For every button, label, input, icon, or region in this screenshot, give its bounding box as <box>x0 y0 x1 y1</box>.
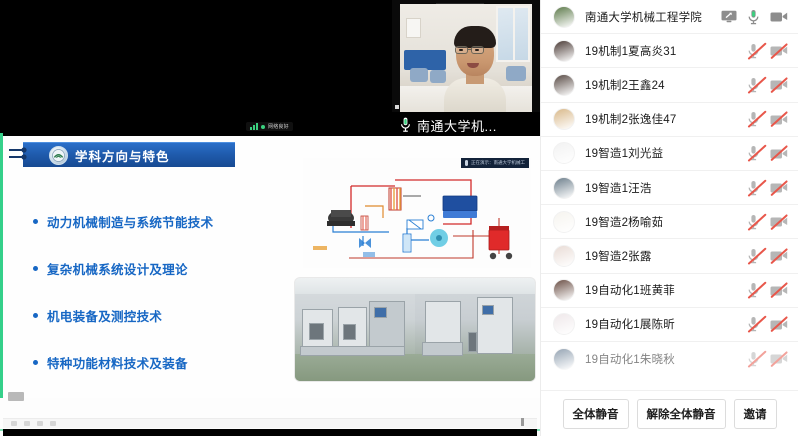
microphone-muted-icon[interactable] <box>747 214 760 230</box>
participant-name: 19机制1夏高炎31 <box>585 43 747 59</box>
list-item: 特种功能材料技术及装备 <box>33 339 288 386</box>
signal-bars-icon <box>250 123 258 130</box>
avatar <box>553 40 575 62</box>
microphone-muted-icon[interactable] <box>747 351 760 367</box>
unmute-all-button[interactable]: 解除全体静音 <box>637 399 726 429</box>
tray-icon[interactable] <box>37 421 43 426</box>
avatar <box>553 279 575 301</box>
camera-off-icon[interactable] <box>770 249 788 262</box>
bullet-dot-icon <box>33 219 38 224</box>
participant-row[interactable]: 19机制2王鑫24 <box>541 68 798 102</box>
active-speaker-name: 南通大学机... <box>417 116 497 135</box>
participant-list[interactable]: 南通大学机械工程学院19机制1夏高炎3119机制2王鑫2419机制2张逸佳471… <box>541 0 798 390</box>
participant-row[interactable]: 19自动化1展陈昕 <box>541 308 798 342</box>
microphone-icon <box>400 117 411 133</box>
participant-name: 19自动化1班黄菲 <box>585 282 747 298</box>
participant-name: 19智造2杨喻茹 <box>585 214 747 230</box>
lab-photo-right <box>415 278 535 381</box>
video-background <box>400 4 532 112</box>
participants-footer: 全体静音 解除全体静音 邀请 <box>541 390 798 436</box>
thermal-system-diagram: 正在演示：南通大学机械工 <box>303 158 531 268</box>
speaker-eye <box>459 49 463 51</box>
tray-icon[interactable] <box>24 421 30 426</box>
tray-caret-icon[interactable] <box>521 418 524 426</box>
participant-row[interactable]: 19机制1夏高炎31 <box>541 34 798 68</box>
bottom-black-strip <box>3 429 537 436</box>
camera-off-icon[interactable] <box>770 215 788 228</box>
participants-panel: 南通大学机械工程学院19机制1夏高炎3119机制2王鑫2419机制2张逸佳471… <box>540 0 798 436</box>
microphone-muted-icon[interactable] <box>747 111 760 127</box>
photo-monitor <box>482 305 494 315</box>
bullet-dot-icon <box>33 360 38 365</box>
camera-off-icon[interactable] <box>770 181 788 194</box>
photo-bench <box>300 346 406 356</box>
microphone-muted-icon[interactable] <box>747 180 760 196</box>
participant-status-icons <box>747 180 788 196</box>
active-speaker-nameplate: 南通大学机... <box>400 114 501 136</box>
bullet-dot-icon <box>33 266 38 271</box>
camera-off-icon[interactable] <box>770 352 788 365</box>
meeting-window: 网络良好 学科方向与特色 <box>0 0 798 436</box>
photo-floor <box>415 354 535 381</box>
participant-status-icons <box>747 248 788 264</box>
tray-icon[interactable] <box>11 421 17 426</box>
connection-status-badge: 网络良好 <box>246 122 293 131</box>
participant-row[interactable]: 19智造1刘光益 <box>541 137 798 171</box>
camera-off-icon[interactable] <box>770 78 788 91</box>
bullet-text: 特种功能材料技术及装备 <box>47 353 188 372</box>
lab-photo-left <box>295 278 415 381</box>
participant-row[interactable]: 19自动化1班黄菲 <box>541 274 798 308</box>
photo-ceiling <box>295 278 415 294</box>
participant-name: 19自动化1朱晓秋 <box>585 351 747 367</box>
glasses-bridge <box>468 49 471 50</box>
taskbar-tray[interactable] <box>3 418 537 428</box>
bullet-text: 复杂机械系统设计及理论 <box>47 259 188 278</box>
tray-icon[interactable] <box>50 421 56 426</box>
participant-name: 19机制2王鑫24 <box>585 77 747 93</box>
participant-row[interactable]: 19智造2杨喻茹 <box>541 205 798 239</box>
participant-row[interactable]: 19机制2张逸佳47 <box>541 103 798 137</box>
avatar <box>553 245 575 267</box>
avatar <box>553 313 575 335</box>
participant-name: 南通大学机械工程学院 <box>585 9 721 25</box>
avatar <box>553 211 575 233</box>
slide-clip-decoration <box>9 146 31 162</box>
invite-button[interactable]: 邀请 <box>734 399 777 429</box>
participant-name: 19自动化1展陈昕 <box>585 316 747 332</box>
participant-name: 19智造1汪浩 <box>585 180 747 196</box>
participant-status-icons <box>747 316 788 332</box>
bullet-dot-icon <box>33 313 38 318</box>
lab-photo-pair <box>295 278 535 381</box>
slide-bullet-list: 动力机械制造与系统节能技术 复杂机械系统设计及理论 机电装备及测控技术 特种功能… <box>33 198 288 386</box>
participant-status-icons <box>747 351 788 367</box>
avatar <box>553 74 575 96</box>
diagram-graphic <box>303 166 531 266</box>
video-corner-indicator <box>395 105 399 109</box>
mute-all-button[interactable]: 全体静音 <box>563 399 629 429</box>
speaker-figure <box>444 22 506 112</box>
presentation-slide[interactable]: 学科方向与特色 动力机械制造与系统节能技术 复杂机械系统设计及理论 机电装备及测… <box>3 136 540 398</box>
avatar <box>553 6 575 28</box>
shared-content-stage[interactable]: 网络良好 学科方向与特色 <box>0 0 540 436</box>
list-item: 复杂机械系统设计及理论 <box>33 245 288 292</box>
share-active-border <box>0 133 3 405</box>
participant-status-icons <box>747 145 788 161</box>
camera-off-icon[interactable] <box>770 113 788 126</box>
microphone-muted-icon[interactable] <box>747 43 760 59</box>
microphone-muted-icon[interactable] <box>747 316 760 332</box>
microphone-muted-icon[interactable] <box>747 77 760 93</box>
room-chair <box>506 66 526 81</box>
participant-status-icons <box>747 43 788 59</box>
participant-name: 19智造2张露 <box>585 248 747 264</box>
collapse-handle[interactable] <box>8 392 24 401</box>
avatar <box>553 177 575 199</box>
avatar <box>553 348 575 370</box>
bullet-text: 机电装备及测控技术 <box>47 306 162 325</box>
camera-off-icon[interactable] <box>770 284 788 297</box>
photo-monitor <box>374 307 387 318</box>
photo-ceiling <box>415 278 535 294</box>
participant-row[interactable]: 19智造1汪浩 <box>541 171 798 205</box>
room-chair <box>410 68 428 82</box>
screen-share-icon[interactable] <box>721 10 737 23</box>
camera-off-icon[interactable] <box>770 147 788 160</box>
speaker-hair <box>454 26 496 48</box>
slide-title-text: 学科方向与特色 <box>75 146 170 165</box>
university-logo-icon <box>49 146 68 165</box>
microphone-muted-icon[interactable] <box>747 282 760 298</box>
speaker-eye <box>475 49 479 51</box>
slide-title-bar: 学科方向与特色 <box>23 142 235 167</box>
participant-status-icons <box>747 282 788 298</box>
microphone-muted-icon[interactable] <box>747 145 760 161</box>
participant-status-icons <box>747 214 788 230</box>
avatar <box>553 108 575 130</box>
participant-status-icons <box>721 9 788 25</box>
microphone-muted-icon[interactable] <box>747 248 760 264</box>
list-item: 机电装备及测控技术 <box>33 292 288 339</box>
list-item: 动力机械制造与系统节能技术 <box>33 198 288 245</box>
avatar <box>553 142 575 164</box>
participant-status-icons <box>747 77 788 93</box>
participant-row[interactable]: 19智造2张露 <box>541 239 798 273</box>
photo-machine <box>309 323 323 339</box>
camera-icon[interactable] <box>770 10 788 23</box>
connection-status-label: 网络良好 <box>268 123 289 130</box>
room-sofa <box>404 50 446 70</box>
microphone-icon[interactable] <box>747 9 760 25</box>
participant-row[interactable]: 19自动化1朱晓秋 <box>541 342 798 376</box>
camera-off-icon[interactable] <box>770 44 788 57</box>
participant-status-icons <box>747 111 788 127</box>
photo-floor <box>295 354 415 381</box>
bullet-text: 动力机械制造与系统节能技术 <box>47 212 213 231</box>
participant-name: 19机制2张逸佳47 <box>585 111 747 127</box>
camera-off-icon[interactable] <box>770 318 788 331</box>
share-bottom-bar[interactable] <box>0 398 540 436</box>
photo-machine <box>343 324 356 339</box>
photo-bench <box>422 342 463 356</box>
participant-name: 19智造1刘光益 <box>585 145 747 161</box>
speaker-video-tile[interactable] <box>392 0 540 112</box>
participant-row[interactable]: 南通大学机械工程学院 <box>541 0 798 34</box>
wall-poster <box>406 18 421 38</box>
status-dot-icon <box>261 125 265 129</box>
photo-machine <box>468 332 478 353</box>
